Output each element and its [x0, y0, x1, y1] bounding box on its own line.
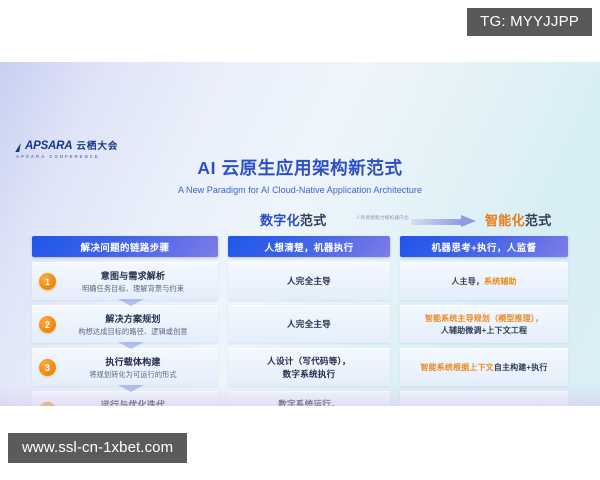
step-description: 明确任务目标、理解背景与约束: [56, 284, 210, 294]
table-header-row: 解决问题的链路步骤 人想清楚，机器执行 机器思考+执行，人监督: [32, 236, 568, 257]
table-header-steps: 解决问题的链路步骤: [32, 236, 218, 257]
slide-sub-title: A New Paradigm for AI Cloud-Native Appli…: [0, 185, 600, 195]
step-cell: 3 执行载体构建 将规划转化为可运行的形式: [32, 348, 218, 386]
step-number-badge: 4: [39, 402, 56, 406]
step-cell: 1 意图与需求解析 明确任务目标、理解背景与约束: [32, 262, 218, 300]
paradigm-transition-band: 数字化范式 人的智能能力被机器内化 智能化范式: [38, 210, 580, 232]
url-watermark-badge: www.ssl-cn-1xbet.com: [8, 433, 187, 463]
table-header-digital: 人想清楚，机器执行: [228, 236, 390, 257]
intelligent-line: 人辅助微调+上下文工程: [441, 325, 527, 337]
presentation-slide: APSARA 云栖大会 APSARA CONFERENCE AI 云原生应用架构…: [0, 62, 600, 406]
digital-paradigm-rest: 范式: [300, 213, 327, 228]
chevron-down-icon: [118, 299, 144, 306]
digital-paradigm-label: 数字化范式: [260, 210, 327, 229]
digital-cell: 人设计（写代码等）， 数字系统执行: [228, 348, 390, 386]
table-row: 2 解决方案规划 构想达成目标的路径、逻辑或创意 人完全主导 智能系统主导规划（…: [32, 305, 568, 343]
digital-line: 数字系统执行: [283, 368, 336, 380]
step-description: 构想达成目标的路径、逻辑或创意: [56, 327, 210, 337]
step-title: 执行载体构建: [56, 355, 210, 368]
step-title: 解决方案规划: [56, 312, 210, 325]
digital-paradigm-accent: 数字化: [260, 213, 300, 228]
arrow-head: [461, 215, 476, 227]
digital-line: 人设计（写代码等），: [267, 355, 351, 367]
intelligent-cell: 人主导，系统辅助: [400, 262, 568, 300]
digital-line: 数字系统运行，: [278, 398, 340, 406]
text-run: 智能系统: [425, 314, 458, 323]
table-row: 1 意图与需求解析 明确任务目标、理解背景与约束 人完全主导 人主导，系统辅助: [32, 262, 568, 300]
telegram-watermark-badge: TG: MYYJJPP: [467, 8, 592, 36]
step-number-badge: 1: [39, 273, 56, 290]
apsara-conference-logo: APSARA 云栖大会 APSARA CONFERENCE: [16, 138, 118, 159]
step-title: 运行与优化迭代: [56, 398, 210, 406]
screenshot-root: TG: MYYJJPP APSARA 云栖大会 APSARA CONFERENC…: [0, 0, 600, 480]
text-run: 系统辅助: [484, 277, 517, 286]
slide-title-block: AI 云原生应用架构新范式 A New Paradigm for AI Clou…: [0, 158, 600, 195]
step-cell: 2 解决方案规划 构想达成目标的路径、逻辑或创意: [32, 305, 218, 343]
text-run: 自主构建+执行: [494, 363, 548, 372]
intelligent-line: 智能系统根据上下文自主运行+迭代: [420, 405, 547, 406]
intelligent-cell: 智能系统根据上下文自主运行+迭代: [400, 391, 568, 406]
step-text-block: 意图与需求解析 明确任务目标、理解背景与约束: [56, 269, 218, 295]
chevron-down-icon: [118, 342, 144, 349]
intelligent-cell: 智能系统根据上下文自主构建+执行: [400, 348, 568, 386]
text-run: 人辅助微调+上下文工程: [441, 326, 527, 335]
comparison-table: 解决问题的链路步骤 人想清楚，机器执行 机器思考+执行，人监督 1 意图与需求解…: [32, 236, 568, 406]
step-cell: 4 运行与优化迭代 系统运转并根据结果迭代: [32, 391, 218, 406]
logo-mark-icon: [15, 143, 21, 152]
right-arrow-icon: [411, 216, 479, 227]
text-run: 主导规划（模型推理），: [457, 314, 543, 323]
intelligent-line: 人主导，系统辅助: [451, 276, 516, 288]
digital-cell: 数字系统运行， 人主导优化: [228, 391, 390, 406]
digital-line: 人完全主导: [287, 275, 331, 287]
arrow-shaft: [411, 219, 463, 225]
table-row: 4 运行与优化迭代 系统运转并根据结果迭代 数字系统运行， 人主导优化 智能系统…: [32, 391, 568, 406]
intelligent-cell: 智能系统主导规划（模型推理）， 人辅助微调+上下文工程: [400, 305, 568, 343]
slide-main-title: AI 云原生应用架构新范式: [0, 158, 600, 180]
text-run: 智能系统根据上下文: [420, 363, 493, 372]
logo-brand-cn-text: 云栖大会: [76, 138, 118, 152]
intelligent-paradigm-rest: 范式: [525, 213, 552, 228]
intelligent-line: 智能系统主导规划（模型推理），: [425, 313, 543, 325]
text-run: 人主导，: [451, 277, 484, 286]
step-text-block: 执行载体构建 将规划转化为可运行的形式: [56, 355, 218, 381]
step-number-badge: 3: [39, 359, 56, 376]
step-number-badge: 2: [39, 316, 56, 333]
intelligent-paradigm-label: 智能化范式: [485, 210, 552, 229]
table-header-intelligent: 机器思考+执行，人监督: [400, 236, 568, 257]
logo-brand-text: APSARA: [25, 140, 72, 152]
step-text-block: 解决方案规划 构想达成目标的路径、逻辑或创意: [56, 312, 218, 338]
intelligent-paradigm-accent: 智能化: [485, 213, 525, 228]
digital-cell: 人完全主导: [228, 305, 390, 343]
chevron-down-icon: [118, 385, 144, 392]
digital-cell: 人完全主导: [228, 262, 390, 300]
paradigm-transition-note: 人的智能能力被机器内化: [356, 215, 409, 221]
logo-primary-row: APSARA 云栖大会: [16, 138, 118, 152]
digital-line: 人完全主导: [287, 318, 331, 330]
table-row: 3 执行载体构建 将规划转化为可运行的形式 人设计（写代码等）， 数字系统执行 …: [32, 348, 568, 386]
step-title: 意图与需求解析: [56, 269, 210, 282]
step-description: 将规划转化为可运行的形式: [56, 370, 210, 380]
intelligent-line: 智能系统根据上下文自主构建+执行: [420, 362, 547, 374]
step-text-block: 运行与优化迭代 系统运转并根据结果迭代: [56, 398, 218, 406]
